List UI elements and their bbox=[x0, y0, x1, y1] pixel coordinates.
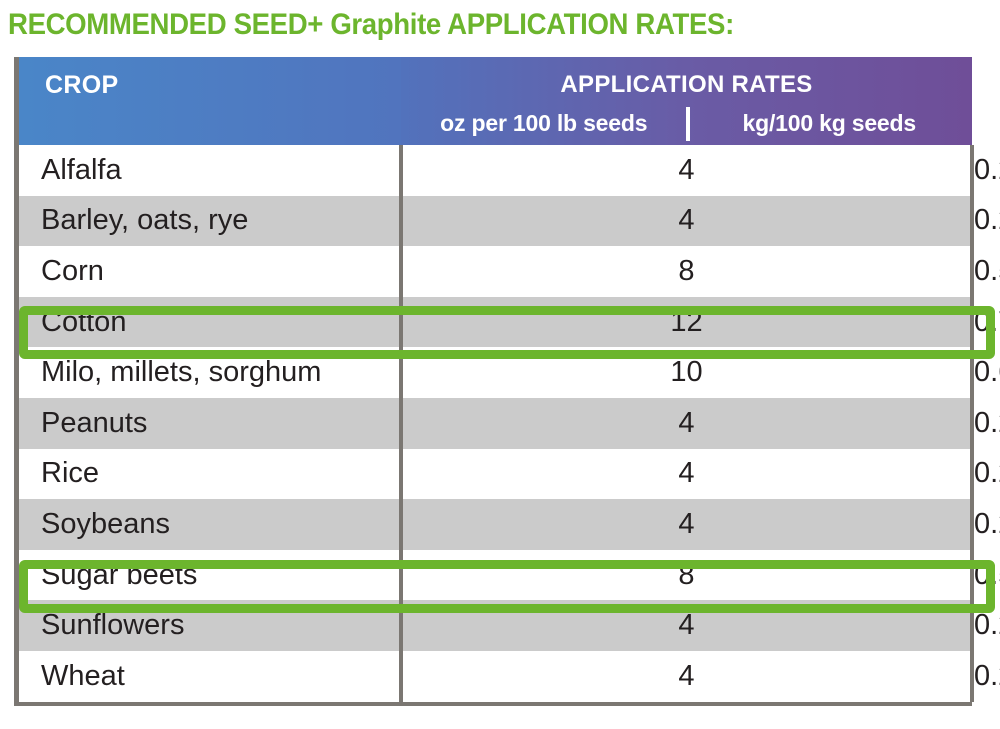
page-title-product-name: Graphite bbox=[330, 8, 441, 41]
cell-oz-per-100lb: 10 bbox=[401, 347, 972, 398]
column-header-crop-label: CROP bbox=[45, 71, 118, 100]
column-header-application-rates-label: APPLICATION RATES bbox=[401, 71, 972, 99]
cell-oz-per-100lb: 4 bbox=[401, 196, 972, 247]
cell-crop: Milo, millets, sorghum bbox=[19, 347, 401, 398]
table-body: Alfalfa40.25Barley, oats, rye40.25Corn80… bbox=[19, 145, 972, 702]
cell-oz-per-100lb: 4 bbox=[401, 600, 972, 651]
cell-crop: Alfalfa bbox=[19, 145, 401, 196]
cell-crop: Rice bbox=[19, 449, 401, 500]
cell-oz-per-100lb: 4 bbox=[401, 449, 972, 500]
column-header-oz-per-100lb: oz per 100 lb seeds bbox=[401, 110, 687, 137]
table-header-row: CROP APPLICATION RATES oz per 100 lb see… bbox=[19, 57, 972, 145]
cell-oz-per-100lb: 4 bbox=[401, 499, 972, 550]
cell-oz-per-100lb: 8 bbox=[401, 550, 972, 601]
cell-crop: Sunflowers bbox=[19, 600, 401, 651]
cell-crop: Cotton bbox=[19, 297, 401, 348]
table-row: Peanuts40.25 bbox=[19, 398, 972, 449]
page-title-part-1: RECOMMENDED SEED+ bbox=[8, 8, 330, 41]
cell-oz-per-100lb: 8 bbox=[401, 246, 972, 297]
table-row: Rice40.25 bbox=[19, 449, 972, 500]
application-rates-table-container: CROP APPLICATION RATES oz per 100 lb see… bbox=[14, 57, 972, 706]
table-row: Sugar beets80.50 bbox=[19, 550, 972, 601]
column-header-application-rates: APPLICATION RATES oz per 100 lb seeds kg… bbox=[401, 57, 972, 145]
column-header-crop: CROP bbox=[19, 57, 401, 145]
cell-crop: Corn bbox=[19, 246, 401, 297]
cell-oz-per-100lb: 4 bbox=[401, 398, 972, 449]
table-row: Barley, oats, rye40.25 bbox=[19, 196, 972, 247]
subheader-divider bbox=[686, 107, 690, 141]
cell-crop: Barley, oats, rye bbox=[19, 196, 401, 247]
application-rates-table: CROP APPLICATION RATES oz per 100 lb see… bbox=[19, 57, 972, 702]
cell-crop: Soybeans bbox=[19, 499, 401, 550]
column-header-kg-per-100kg: kg/100 kg seeds bbox=[687, 110, 973, 137]
table-row: Cotton120.75 bbox=[19, 297, 972, 348]
cell-oz-per-100lb: 12 bbox=[401, 297, 972, 348]
cell-crop: Peanuts bbox=[19, 398, 401, 449]
table-row: Wheat40.25 bbox=[19, 651, 972, 702]
cell-crop: Wheat bbox=[19, 651, 401, 702]
table-row: Corn80.50 bbox=[19, 246, 972, 297]
cell-oz-per-100lb: 4 bbox=[401, 651, 972, 702]
table-row: Sunflowers40.25 bbox=[19, 600, 972, 651]
table-row: Soybeans40.25 bbox=[19, 499, 972, 550]
table-row: Milo, millets, sorghum100.625 bbox=[19, 347, 972, 398]
cell-crop: Sugar beets bbox=[19, 550, 401, 601]
cell-oz-per-100lb: 4 bbox=[401, 145, 972, 196]
table-header: CROP APPLICATION RATES oz per 100 lb see… bbox=[19, 57, 972, 145]
table-row: Alfalfa40.25 bbox=[19, 145, 972, 196]
page-title: RECOMMENDED SEED+ Graphite APPLICATION R… bbox=[8, 6, 910, 48]
page-title-part-3: APPLICATION RATES: bbox=[441, 8, 734, 41]
